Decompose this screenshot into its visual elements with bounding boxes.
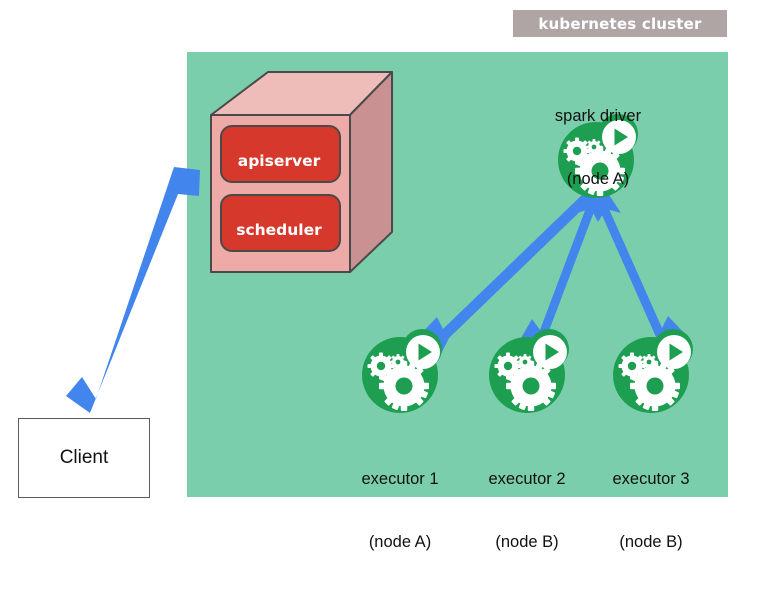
spark-submit-arrow xyxy=(66,167,200,413)
executor-3-label: executor 3 (node B) xyxy=(581,427,721,595)
kubernetes-cluster-badge: kubernetes cluster xyxy=(513,10,727,37)
executor-3-title: executor 3 xyxy=(581,469,721,490)
executor-3-subtitle: (node B) xyxy=(581,532,721,553)
scheduler-label: scheduler xyxy=(219,221,339,239)
executor-2-subtitle: (node B) xyxy=(457,532,597,553)
spark-driver-label: spark driver (node A) xyxy=(508,64,688,232)
client-box: Client xyxy=(18,418,150,498)
executor-2-label: executor 2 (node B) xyxy=(457,427,597,595)
spark-driver-subtitle: (node A) xyxy=(508,169,688,190)
spark-driver-title: spark driver xyxy=(508,106,688,127)
client-label: Client xyxy=(60,447,109,469)
executor-1-title: executor 1 xyxy=(330,469,470,490)
apiserver-label: apiserver xyxy=(219,152,339,170)
executor-2-title: executor 2 xyxy=(457,469,597,490)
executor-1-subtitle: (node A) xyxy=(330,532,470,553)
executor-1-label: executor 1 (node A) xyxy=(330,427,470,595)
architecture-diagram: kubernetes cluster apiserver scheduler s… xyxy=(0,0,761,516)
control-plane-cube xyxy=(211,72,392,272)
